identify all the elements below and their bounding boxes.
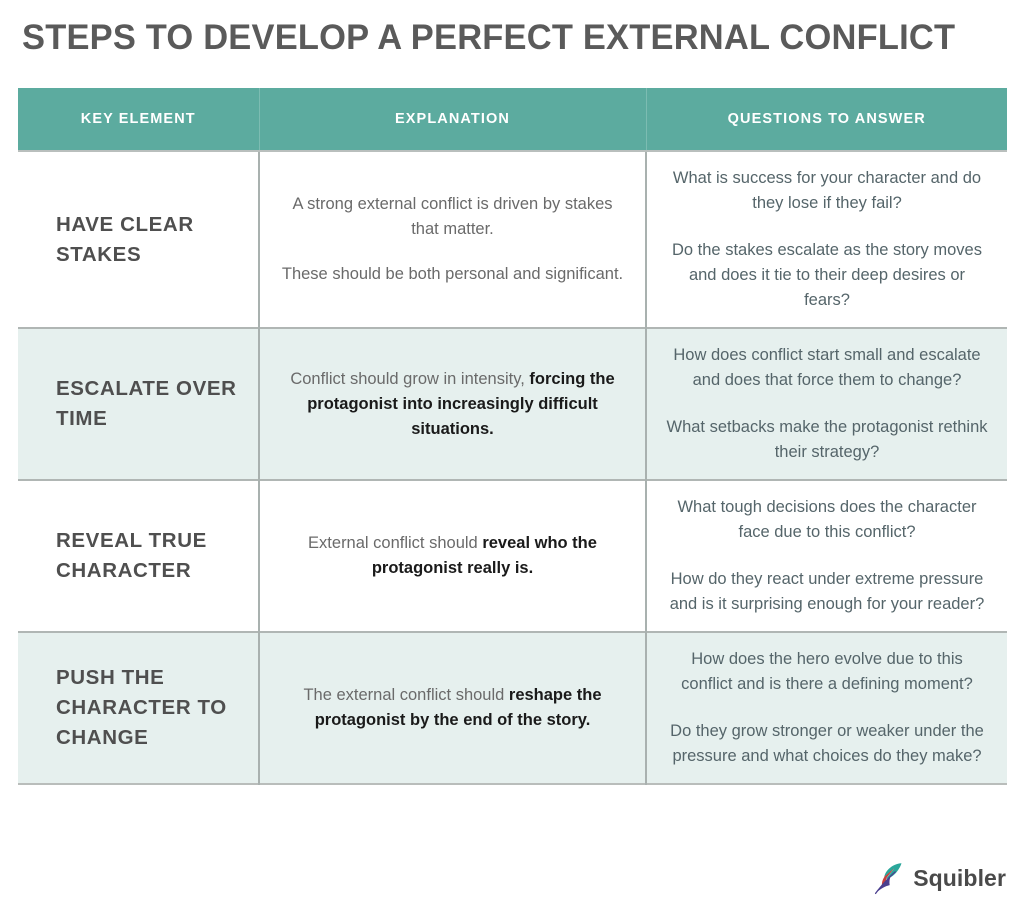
- table-header: KEY ELEMENT EXPLANATION QUESTIONS TO ANS…: [18, 88, 1007, 151]
- brand-name: Squibler: [913, 865, 1006, 892]
- table-row: PUSH THE CHARACTER TO CHANGE The externa…: [18, 632, 1007, 784]
- key-element-cell: ESCALATE OVER TIME: [18, 328, 259, 480]
- questions-cell: How does the hero evolve due to this con…: [646, 632, 1007, 784]
- question-one: How does the hero evolve due to this con…: [665, 647, 989, 697]
- questions-spacer: [665, 697, 989, 719]
- explanation-normal-text: A strong external conflict is driven by …: [278, 192, 627, 242]
- infographic-page: STEPS TO DEVELOP A PERFECT EXTERNAL CONF…: [0, 0, 1024, 915]
- key-element-cell: REVEAL TRUE CHARACTER: [18, 480, 259, 632]
- key-element-label: REVEAL TRUE CHARACTER: [56, 526, 248, 586]
- footer-branding: Squibler: [874, 861, 1006, 895]
- explanation-mixed-text: Conflict should grow in intensity, forci…: [278, 367, 627, 442]
- explanation-bold-text: These should be both personal and signif…: [278, 262, 627, 287]
- questions-spacer: [665, 393, 989, 415]
- table-row: HAVE CLEAR STAKES A strong external conf…: [18, 151, 1007, 328]
- page-title: STEPS TO DEVELOP A PERFECT EXTERNAL CONF…: [22, 16, 991, 60]
- column-header-questions: QUESTIONS TO ANSWER: [646, 88, 1007, 151]
- column-header-key-element: KEY ELEMENT: [18, 88, 259, 151]
- questions-cell: What tough decisions does the character …: [646, 480, 1007, 632]
- explanation-cell: Conflict should grow in intensity, forci…: [259, 328, 646, 480]
- explanation-cell: The external conflict should reshape the…: [259, 632, 646, 784]
- question-two: What setbacks make the protagonist rethi…: [665, 415, 989, 465]
- table-body: HAVE CLEAR STAKES A strong external conf…: [18, 151, 1007, 784]
- question-one: What is success for your character and d…: [665, 166, 989, 216]
- explanation-normal-segment: External conflict should: [308, 534, 482, 552]
- questions-spacer: [665, 545, 989, 567]
- question-one: How does conflict start small and escala…: [665, 343, 989, 393]
- questions-cell: How does conflict start small and escala…: [646, 328, 1007, 480]
- question-two: How do they react under extreme pressure…: [665, 567, 989, 617]
- column-header-explanation: EXPLANATION: [259, 88, 646, 151]
- key-element-label: HAVE CLEAR STAKES: [56, 210, 248, 270]
- key-element-cell: HAVE CLEAR STAKES: [18, 151, 259, 328]
- explanation-normal-segment: The external conflict should: [303, 686, 508, 704]
- explanation-mixed-text: The external conflict should reshape the…: [278, 683, 627, 733]
- quill-feather-icon: [874, 861, 904, 895]
- explanation-cell: A strong external conflict is driven by …: [259, 151, 646, 328]
- questions-cell: What is success for your character and d…: [646, 151, 1007, 328]
- question-one: What tough decisions does the character …: [665, 495, 989, 545]
- table-row: REVEAL TRUE CHARACTER External conflict …: [18, 480, 1007, 632]
- explanation-spacer: [278, 242, 627, 262]
- key-element-label: PUSH THE CHARACTER TO CHANGE: [56, 663, 248, 753]
- questions-spacer: [665, 216, 989, 238]
- key-element-label: ESCALATE OVER TIME: [56, 374, 248, 434]
- key-element-cell: PUSH THE CHARACTER TO CHANGE: [18, 632, 259, 784]
- table-header-row: KEY ELEMENT EXPLANATION QUESTIONS TO ANS…: [18, 88, 1007, 151]
- question-two: Do the stakes escalate as the story move…: [665, 238, 989, 313]
- explanation-cell: External conflict should reveal who the …: [259, 480, 646, 632]
- table-row: ESCALATE OVER TIME Conflict should grow …: [18, 328, 1007, 480]
- question-two: Do they grow stronger or weaker under th…: [665, 719, 989, 769]
- explanation-normal-segment: Conflict should grow in intensity,: [290, 370, 529, 388]
- explanation-mixed-text: External conflict should reveal who the …: [278, 531, 627, 581]
- steps-table: KEY ELEMENT EXPLANATION QUESTIONS TO ANS…: [18, 88, 1007, 785]
